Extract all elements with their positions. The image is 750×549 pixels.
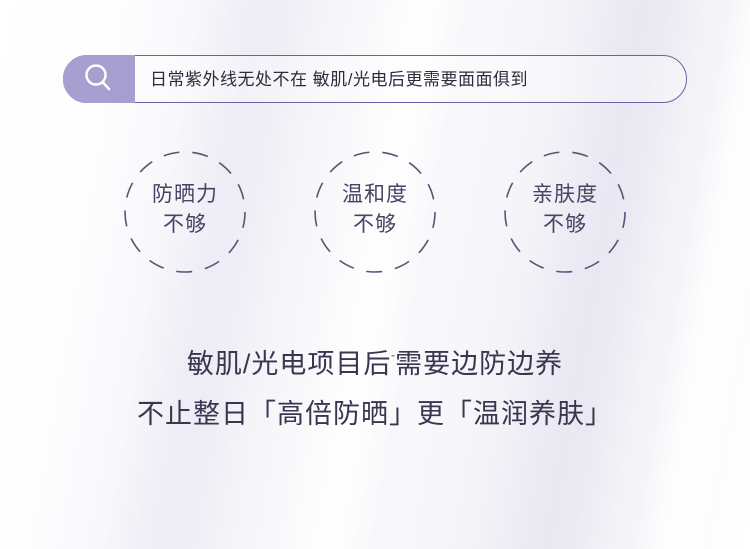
feature-circle-item-3: 亲肤度 不够 xyxy=(485,140,645,305)
feature-line-2: 不够 xyxy=(105,210,265,240)
feature-circle-item-1: 防晒力 不够 xyxy=(105,140,265,305)
feature-line-1: 亲肤度 xyxy=(485,180,645,210)
feature-line-1: 温和度 xyxy=(295,180,455,210)
body-copy: 敏肌/光电项目后ˇ需要边防边养 不止整日「高倍防晒」更「温润养肤」 xyxy=(0,340,750,434)
headline-banner: 日常紫外线无处不在 敏肌/光电后更需要面面俱到 xyxy=(63,55,687,103)
feature-circle-label-2: 温和度 不够 xyxy=(295,180,455,240)
headline-text: 日常紫外线无处不在 敏肌/光电后更需要面面俱到 xyxy=(150,56,528,104)
feature-line-1: 防晒力 xyxy=(105,180,265,210)
body-copy-line-1-part-a: 敏肌/光电项目后 xyxy=(187,349,392,379)
feature-circle-label-1: 防晒力 不够 xyxy=(105,180,265,240)
body-copy-line-1: 敏肌/光电项目后ˇ需要边防边养 xyxy=(0,340,750,384)
feature-line-2: 不够 xyxy=(485,210,645,240)
feature-circle-label-3: 亲肤度 不够 xyxy=(485,180,645,240)
body-copy-line-1-part-b: 需要边防边养 xyxy=(395,349,563,379)
feature-line-2: 不够 xyxy=(295,210,455,240)
feature-circle-item-2: 温和度 不够 xyxy=(295,140,455,305)
page-root: 日常紫外线无处不在 敏肌/光电后更需要面面俱到 防晒力 不够 温和度 xyxy=(0,0,750,549)
body-copy-line-2: 不止整日「高倍防晒」更「温润养肤」 xyxy=(0,394,750,434)
feature-circle-group: 防晒力 不够 温和度 不够 亲肤度 不够 xyxy=(0,140,750,315)
magnifier-icon xyxy=(82,62,116,96)
magnifier-badge xyxy=(63,55,135,103)
